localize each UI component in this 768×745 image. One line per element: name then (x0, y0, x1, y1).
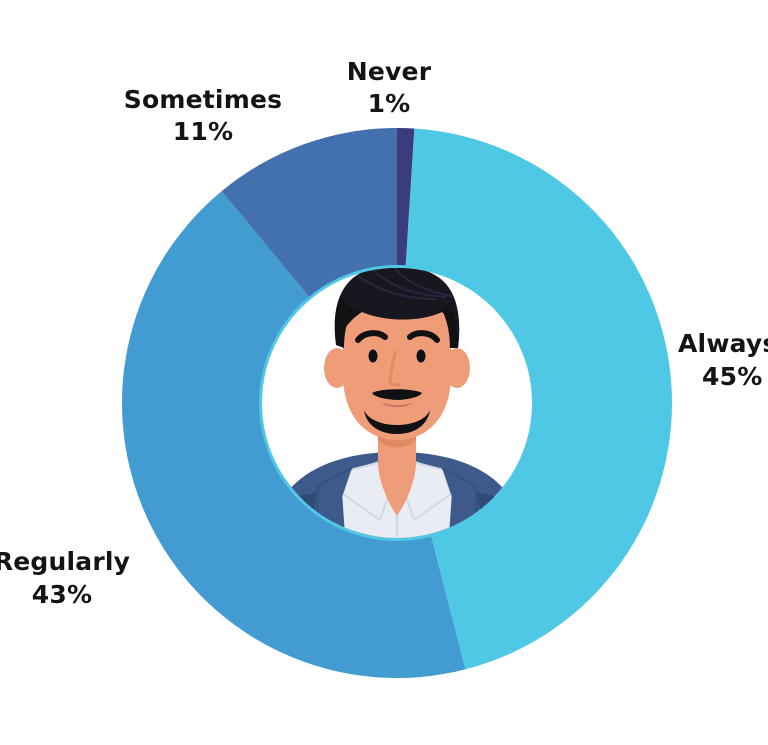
slice-label-regularly: Regularly (0, 547, 130, 576)
avatar-eye-right (417, 350, 426, 363)
slice-value-never: 1% (368, 89, 411, 118)
slice-label-always: Always (678, 329, 768, 358)
slice-label-sometimes: Sometimes (124, 85, 282, 114)
avatar-eye-left (369, 350, 378, 363)
slice-value-regularly: 43% (32, 580, 92, 609)
donut-chart: Always45%Regularly43%Sometimes11%Never1% (0, 0, 768, 745)
slice-value-always: 45% (702, 362, 762, 391)
donut-chart-canvas: Always45%Regularly43%Sometimes11%Never1% (0, 0, 768, 745)
slice-label-never: Never (347, 57, 432, 86)
slice-value-sometimes: 11% (173, 117, 233, 146)
